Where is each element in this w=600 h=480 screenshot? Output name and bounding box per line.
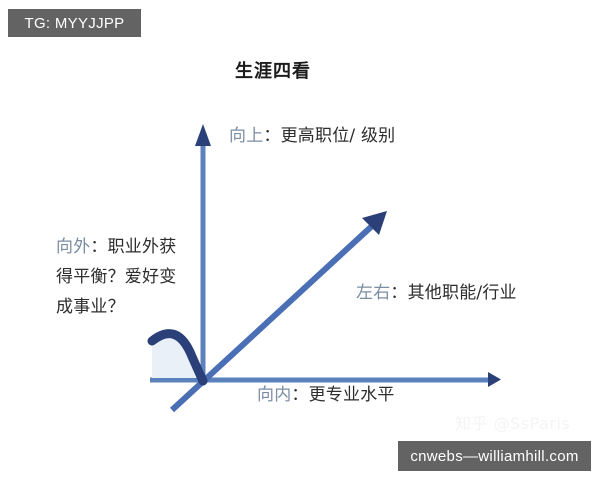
axis-label-outward-line3: 成事业？ <box>56 297 125 317</box>
axis-label-lateral-direction: 左右 <box>356 283 390 303</box>
axis-label-up: 向上：更高职位/ 级别 <box>229 124 395 149</box>
axis-label-inward-direction: 向内 <box>257 385 291 405</box>
axis-label-up-text: 更高职位/ 级别 <box>281 126 396 146</box>
axis-label-lateral-text: 其他职能/行业 <box>408 283 517 303</box>
site-watermark-badge: cnwebs—williamhill.com <box>398 441 591 471</box>
axis-label-inward-text: 更专业水平 <box>309 385 395 405</box>
axis-label-outward-separator: ： <box>90 237 107 257</box>
axis-label-up-direction: 向上 <box>229 126 263 146</box>
zhihu-watermark: 知乎 @SsParis <box>455 410 570 434</box>
axis-label-lateral: 左右：其他职能/行业 <box>356 281 517 306</box>
horizontal-right-arrowhead <box>488 372 501 387</box>
axis-label-outward: 向外：职业外获 得平衡？爱好变 成事业？ <box>56 232 206 322</box>
axis-label-inward-separator: ： <box>291 385 308 405</box>
axis-label-outward-line2: 得平衡？爱好变 <box>56 267 176 287</box>
vertical-up-arrowhead <box>195 124 211 146</box>
origin-node <box>199 376 207 384</box>
axis-label-outward-line1: 职业外获 <box>108 237 177 257</box>
axis-label-lateral-separator: ： <box>390 283 407 303</box>
diagram-canvas: TG: MYYJJPP 生涯四看 向上：更高职位/ 级别 向内：更专业水平 左右… <box>0 0 600 480</box>
axis-label-up-separator: ： <box>263 126 280 146</box>
axis-label-outward-direction: 向外 <box>56 237 90 257</box>
axis-label-inward: 向内：更专业水平 <box>257 383 395 408</box>
